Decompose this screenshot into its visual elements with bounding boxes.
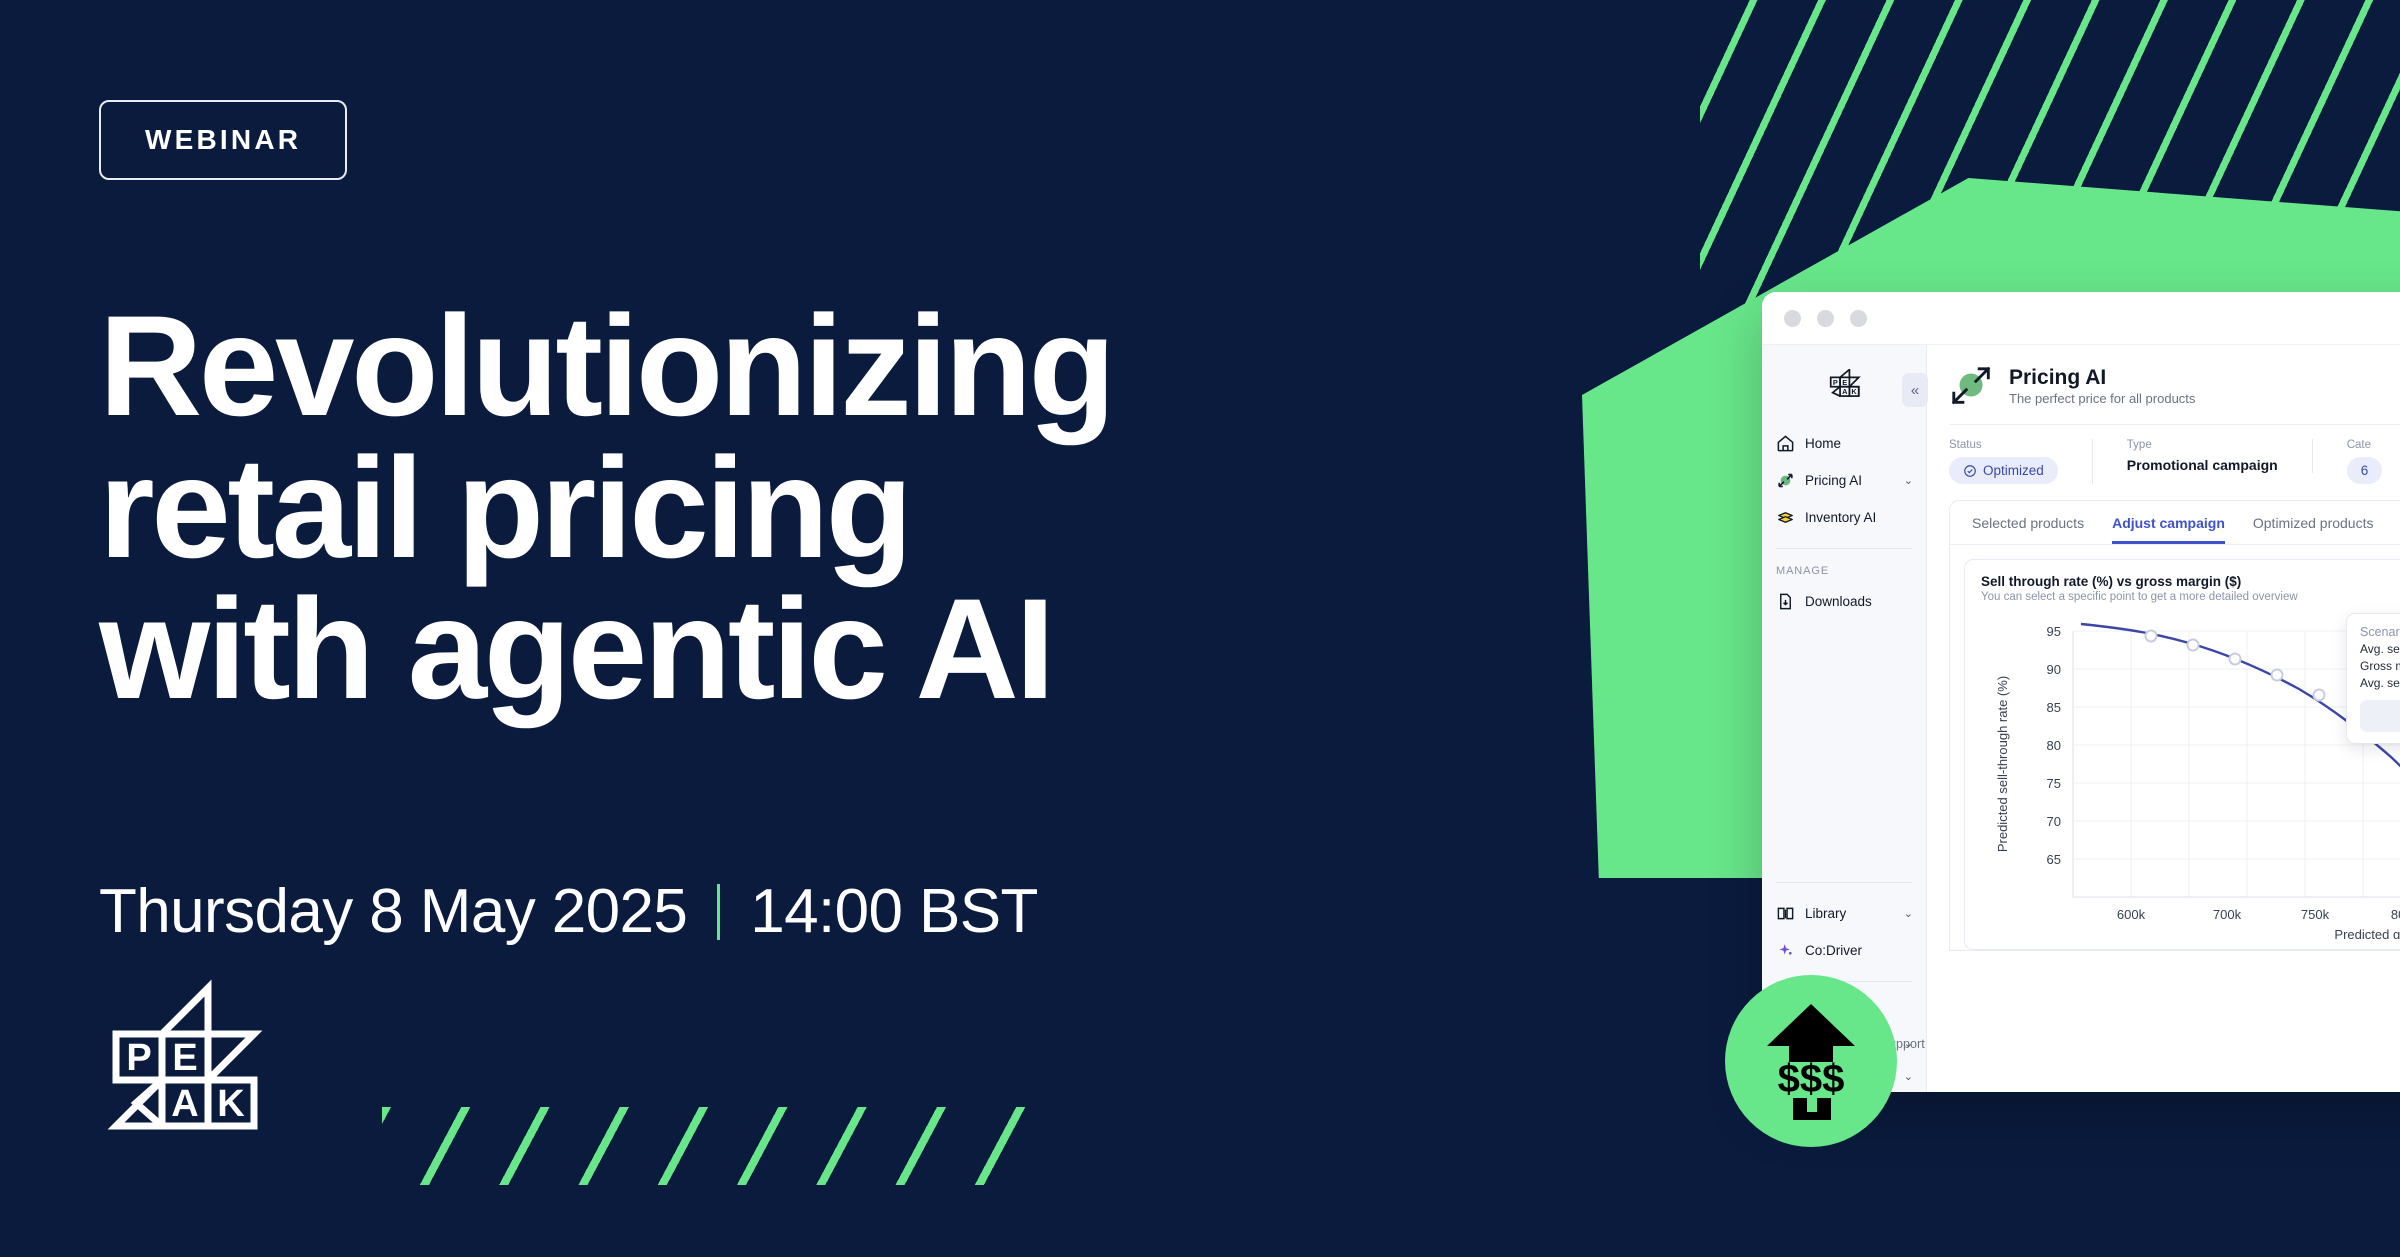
svg-text:P: P — [1833, 378, 1838, 387]
meta-label: Status — [1949, 439, 2058, 451]
y-axis-label: Predicted sell-through rate (%) — [1995, 676, 2010, 852]
sidebar-item-label: Co:Driver — [1805, 943, 1862, 958]
event-date: Thursday 8 May 2025 — [99, 876, 687, 947]
sidebar-item-label: Library — [1805, 906, 1846, 921]
sidebar-item-label: Home — [1805, 436, 1841, 451]
sidebar-item-downloads[interactable]: Downloads — [1762, 583, 1926, 620]
svg-text:K: K — [1851, 387, 1857, 396]
minimize-icon[interactable] — [1817, 310, 1834, 327]
event-datetime: Thursday 8 May 2025 14:00 BST — [99, 876, 1038, 947]
chevron-down-icon[interactable]: ⌄ — [1904, 1070, 1913, 1083]
inventory-ai-icon — [1776, 508, 1795, 527]
sidebar-collapse-button[interactable]: « — [1902, 373, 1928, 407]
tooltip-title-text: Scenario 6 — [2360, 625, 2400, 639]
tooltip-line-1: Avg. sell throug — [2360, 642, 2400, 656]
status-badge[interactable]: Optimized — [1949, 457, 2058, 484]
sell-through-vs-margin-chart[interactable]: 95 90 85 80 75 70 65 60 — [1981, 609, 2400, 939]
svg-text:80: 80 — [2047, 738, 2061, 753]
svg-text:700k: 700k — [2213, 907, 2242, 922]
tooltip-line-3: Avg. selling pric — [2360, 676, 2400, 690]
svg-text:P: P — [126, 1037, 151, 1079]
header-divider — [1949, 424, 2400, 425]
peak-logo: P E A K — [96, 978, 264, 1138]
svg-text:750k: 750k — [2301, 907, 2330, 922]
left-content-column: WEBINAR Revolutionizing retail pricing w… — [0, 0, 1080, 1257]
sidebar-divider — [1776, 548, 1912, 549]
set-optimization-button[interactable]: Set optimiza — [2360, 700, 2400, 732]
webinar-badge: WEBINAR — [99, 100, 347, 180]
sidebar-item-codriver[interactable]: Co:Driver — [1762, 932, 1926, 969]
window-titlebar — [1762, 292, 2400, 345]
money-badge-text: $$$ — [1778, 1057, 1845, 1101]
check-circle-icon — [1963, 464, 1977, 478]
sidebar-item-label: Inventory AI — [1805, 510, 1876, 525]
sidebar-item-pricing-ai[interactable]: Pricing AI ⌄ — [1762, 462, 1926, 499]
close-icon[interactable] — [1784, 310, 1801, 327]
svg-text:K: K — [217, 1083, 245, 1125]
chevron-down-icon[interactable]: ⌄ — [1904, 474, 1913, 487]
sidebar-primary-nav: Home Pricing AI ⌄ — [1762, 425, 1926, 536]
meta-status: Status Optimized — [1949, 439, 2093, 484]
headline-line-3: with agentic AI — [99, 579, 1399, 721]
sidebar-logo[interactable]: PE AK « — [1762, 359, 1926, 411]
chart-subtitle: You can select a specific point to get a… — [1981, 591, 2400, 603]
sidebar-item-label: Pricing AI — [1805, 473, 1862, 488]
money-growth-badge: $$$ — [1725, 975, 1897, 1147]
meta-type: Type Promotional campaign — [2127, 439, 2313, 473]
meta-value: Promotional campaign — [2127, 457, 2278, 473]
svg-text:A: A — [1842, 387, 1848, 396]
app-header: Pricing AI The perfect price for all pro… — [1949, 363, 2400, 409]
meta-category: Cate 6 — [2347, 439, 2400, 484]
tooltip-title: Scenario 6 (Re — [2360, 625, 2400, 639]
headline-line-1: Revolutionizing — [99, 296, 1399, 438]
svg-text:600k: 600k — [2117, 907, 2146, 922]
tab-bar: Selected products Adjust campaign Optimi… — [1950, 501, 2400, 545]
sidebar-item-home[interactable]: Home — [1762, 425, 1926, 462]
pricing-ai-icon — [1776, 471, 1795, 490]
y-axis-ticks: 95 90 85 80 75 70 65 — [2047, 624, 2061, 867]
chart-card: Sell through rate (%) vs gross margin ($… — [1964, 559, 2400, 950]
tab-selected-products[interactable]: Selected products — [1972, 515, 2084, 544]
maximize-icon[interactable] — [1850, 310, 1867, 327]
datetime-separator — [717, 884, 720, 940]
svg-text:A: A — [171, 1083, 198, 1125]
status-label: Optimized — [1983, 463, 2044, 478]
category-badge[interactable]: 6 — [2347, 457, 2383, 484]
sidebar-item-label: Downloads — [1805, 594, 1872, 609]
tooltip-line-2: Gross margin: — [2360, 659, 2400, 673]
book-icon — [1776, 904, 1795, 923]
chevron-down-icon[interactable]: ⌄ — [1904, 1037, 1913, 1050]
headline-line-2: retail pricing — [99, 438, 1399, 580]
dashboard-window: PE AK « Home — [1762, 292, 2400, 1092]
sparkle-icon — [1776, 941, 1795, 960]
svg-text:E: E — [1842, 378, 1847, 387]
sidebar-item-inventory-ai[interactable]: Inventory AI — [1762, 499, 1926, 536]
home-icon — [1776, 434, 1795, 453]
tab-optimized-products[interactable]: Optimized products — [2253, 515, 2374, 544]
tab-adjust-campaign[interactable]: Adjust campaign — [2112, 515, 2225, 544]
app-subtitle: The perfect price for all products — [2009, 391, 2195, 406]
svg-text:65: 65 — [2047, 852, 2061, 867]
campaign-meta-row: Status Optimized Type Promotional campai… — [1949, 439, 2400, 484]
svg-text:95: 95 — [2047, 624, 2061, 639]
app-title: Pricing AI — [2009, 366, 2195, 390]
page-title: Revolutionizing retail pricing with agen… — [99, 296, 1399, 721]
svg-text:E: E — [172, 1037, 197, 1079]
campaign-panel: Selected products Adjust campaign Optimi… — [1949, 500, 2400, 951]
chart-plot-area: 95 90 85 80 75 70 65 60 — [1981, 609, 2400, 939]
pricing-ai-icon — [1949, 363, 1995, 409]
sidebar-item-library[interactable]: Library ⌄ — [1762, 895, 1926, 932]
sidebar-divider-lower — [1776, 882, 1912, 883]
main-content: Pricing AI The perfect price for all pro… — [1927, 345, 2400, 1092]
chart-title: Sell through rate (%) vs gross margin ($… — [1981, 574, 2400, 589]
svg-text:85: 85 — [2047, 700, 2061, 715]
peak-logo-small: PE AK — [1822, 369, 1866, 401]
download-file-icon — [1776, 592, 1795, 611]
arrow-up-dollars-icon: $$$ — [1759, 1000, 1863, 1122]
sidebar-section-label: MANAGE — [1762, 561, 1926, 583]
event-time: 14:00 BST — [750, 876, 1038, 947]
chevron-down-icon[interactable]: ⌄ — [1904, 907, 1913, 920]
meta-label: Cate — [2347, 439, 2383, 451]
svg-text:70: 70 — [2047, 814, 2061, 829]
svg-text:75: 75 — [2047, 776, 2061, 791]
meta-label: Type — [2127, 439, 2278, 451]
x-axis-ticks: 600k 700k 750k 800k — [2117, 907, 2400, 922]
svg-text:90: 90 — [2047, 662, 2061, 677]
scenario-tooltip: Scenario 6 (Re Avg. sell throug Gross ma… — [2346, 613, 2400, 744]
poster-canvas: WEBINAR Revolutionizing retail pricing w… — [0, 0, 2400, 1257]
svg-text:800k: 800k — [2391, 907, 2400, 922]
x-axis-label: Predicted gross margin ($) — [2334, 927, 2400, 939]
